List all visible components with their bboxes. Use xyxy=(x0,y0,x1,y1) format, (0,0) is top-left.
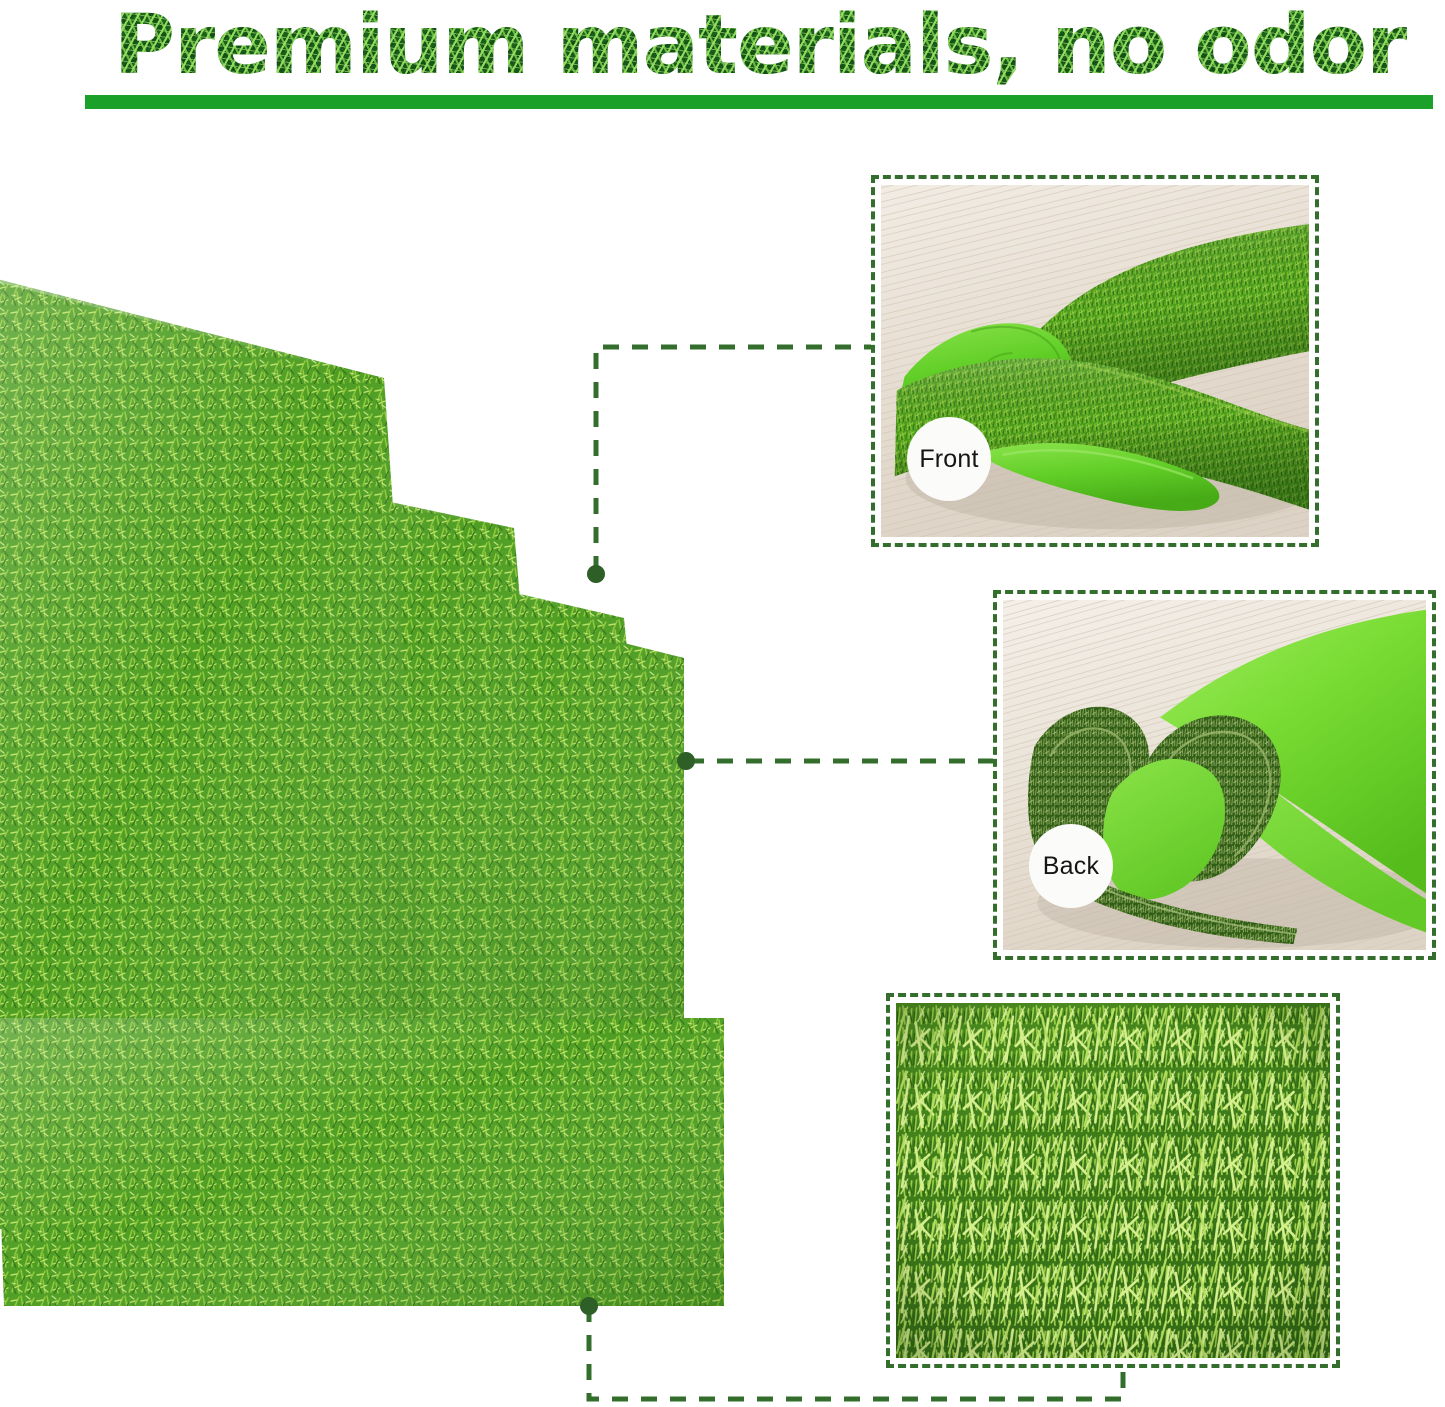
callout-blades-photo xyxy=(896,1003,1330,1358)
badge-front: Front xyxy=(907,417,991,501)
grass-sheet-1 xyxy=(0,1018,724,1306)
callout-back[interactable]: Back xyxy=(993,590,1436,960)
callout-front-photo: Front xyxy=(881,185,1309,537)
callout-front[interactable]: Front xyxy=(871,175,1319,547)
page-title: Premium materials, no odor xyxy=(72,2,1445,90)
product-image-grass-mat-stack xyxy=(0,228,774,1313)
callout-back-photo: Back xyxy=(1003,600,1426,950)
title-underline-bar xyxy=(85,95,1433,109)
callout-blades[interactable] xyxy=(886,993,1340,1368)
badge-back: Back xyxy=(1029,824,1113,908)
header-band: Premium materials, no odor xyxy=(0,0,1445,120)
